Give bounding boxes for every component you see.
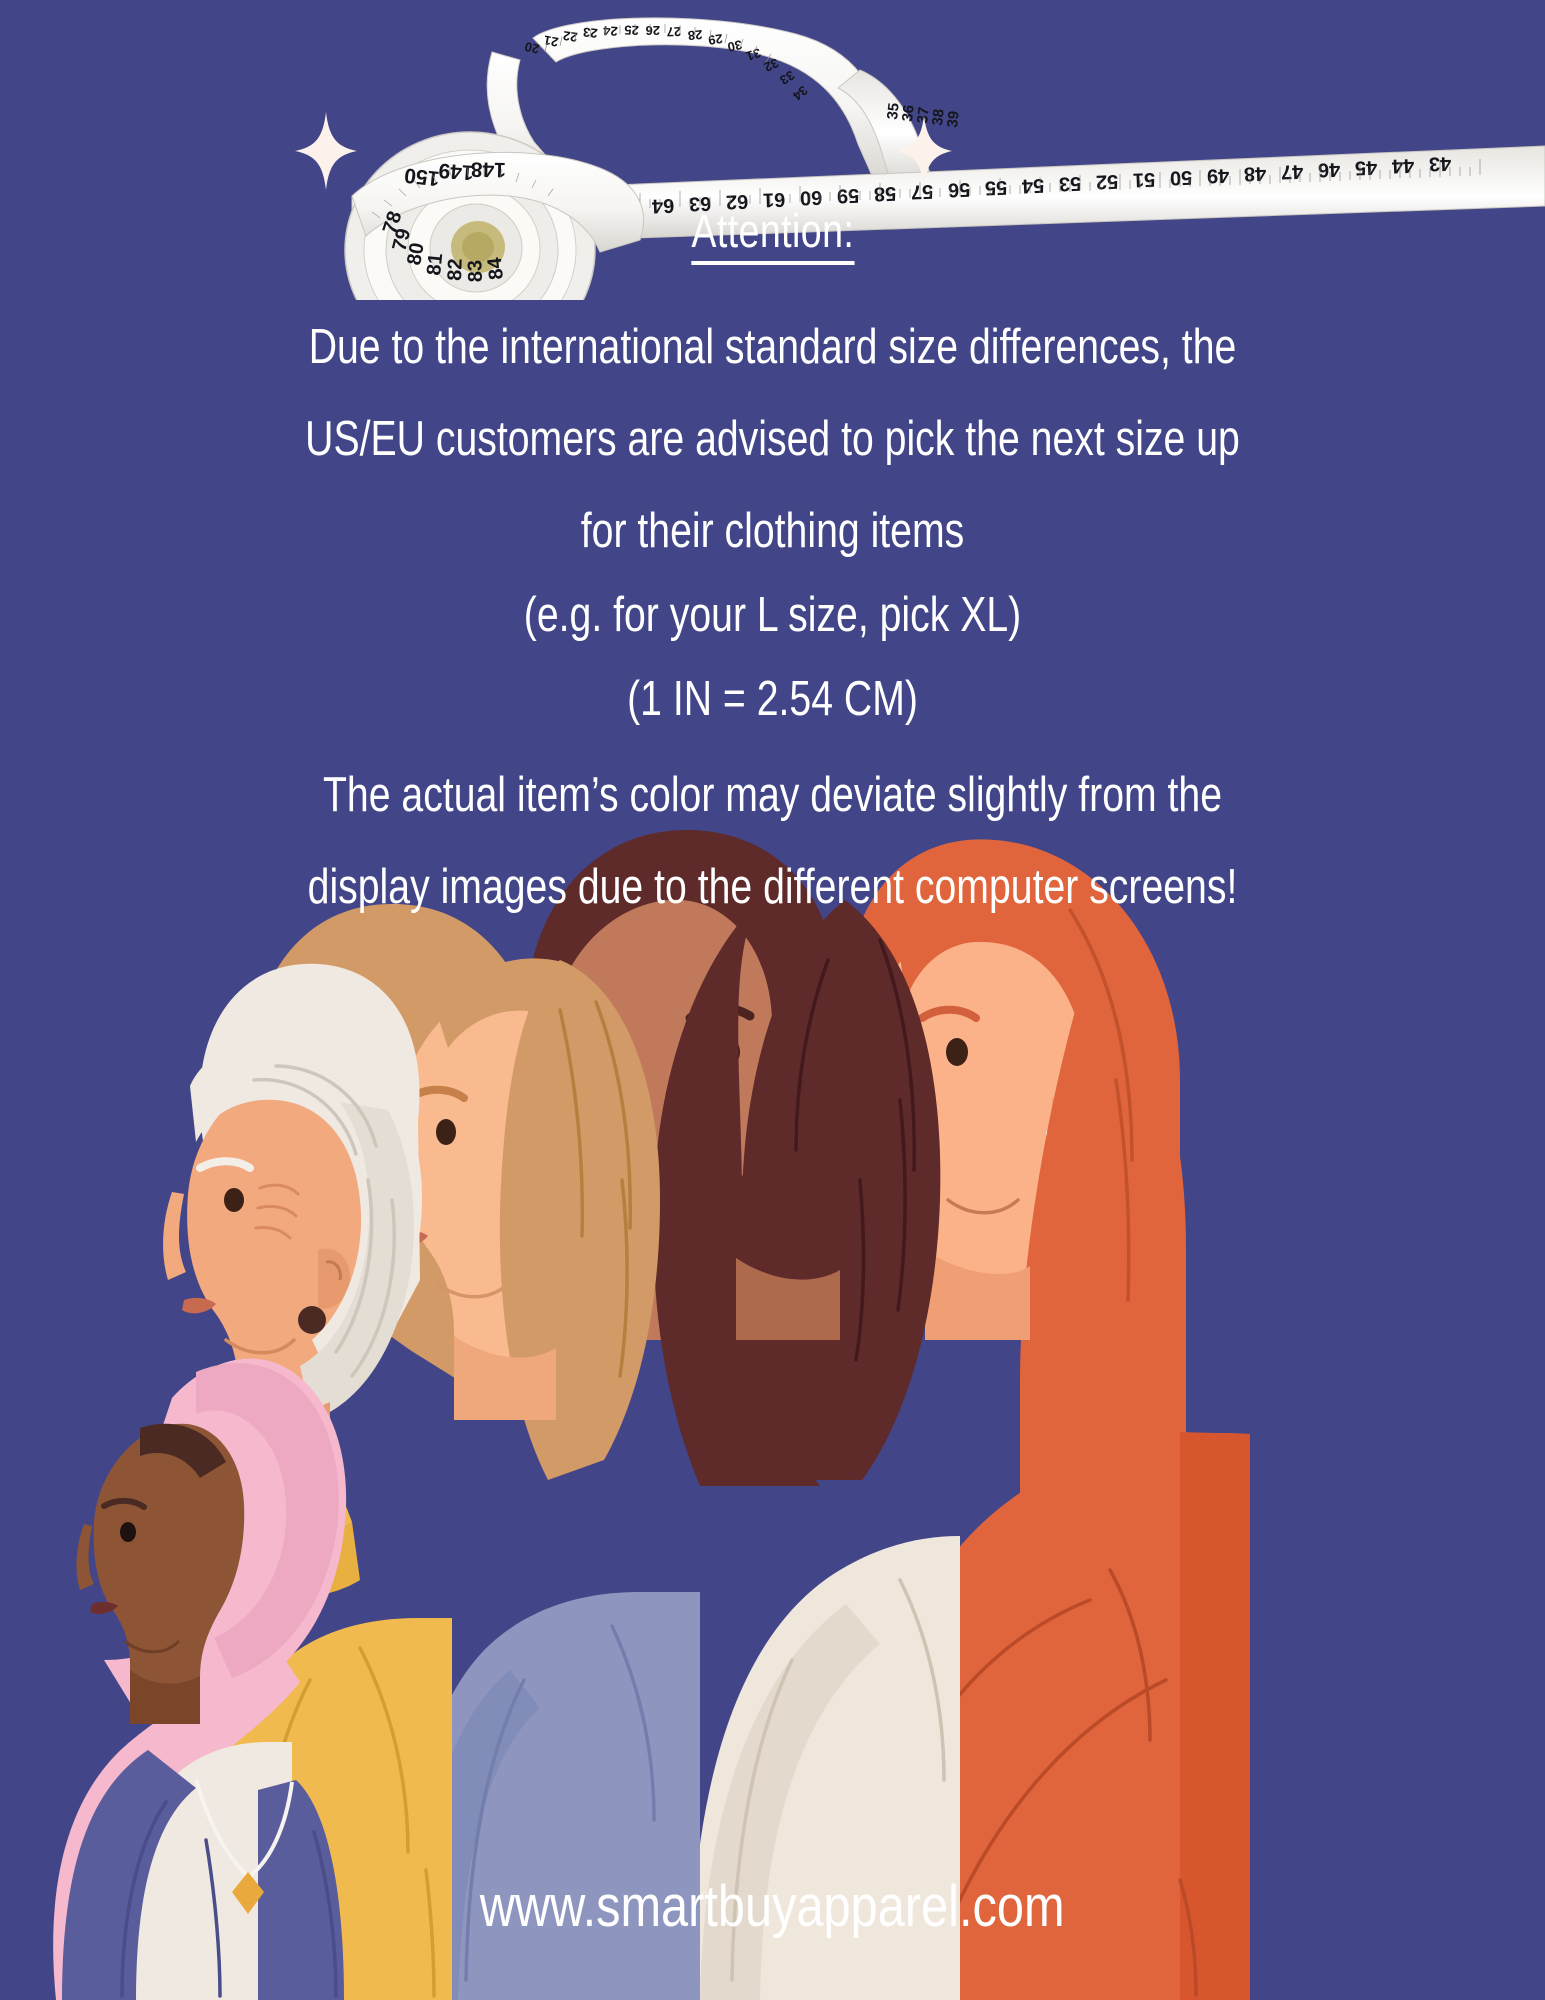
notice-text-block: Attention: Due to the international stan… — [0, 205, 1545, 912]
svg-text:46: 46 — [1318, 158, 1341, 181]
tape-left-connector — [487, 52, 560, 190]
page-title: Attention: — [691, 205, 854, 265]
website-url-text: www.smartbuyapparel.com — [480, 1873, 1065, 1940]
svg-text:48: 48 — [1244, 162, 1267, 185]
svg-text:33: 33 — [777, 67, 797, 87]
svg-text:44: 44 — [1391, 154, 1415, 177]
svg-text:27: 27 — [666, 24, 681, 39]
notice-line-7: display images due to the different comp… — [155, 863, 1391, 912]
svg-text:31: 31 — [744, 45, 762, 64]
svg-text:47: 47 — [1281, 160, 1304, 183]
sparkle-icon — [295, 112, 357, 195]
notice-line-1: Due to the international standard size d… — [155, 323, 1391, 372]
tape-upper-loop: 20 20 21 22 23 24 25 26 27 28 29 30 31 — [523, 18, 905, 180]
sparkle-icon — [896, 116, 952, 191]
svg-text:20: 20 — [523, 39, 540, 57]
svg-text:150: 150 — [403, 163, 440, 190]
svg-text:149: 149 — [438, 159, 475, 184]
svg-text:29: 29 — [707, 31, 723, 48]
svg-text:51: 51 — [1133, 168, 1156, 191]
notice-line-6: The actual item’s color may deviate slig… — [155, 771, 1391, 820]
notice-line-4: (e.g. for your L size, pick XL) — [155, 591, 1391, 640]
svg-text:49: 49 — [1207, 164, 1230, 187]
notice-line-3: for their clothing items — [155, 507, 1391, 556]
svg-text:148: 148 — [470, 157, 506, 181]
svg-text:43: 43 — [1429, 152, 1452, 175]
svg-text:26: 26 — [646, 23, 660, 38]
svg-text:50: 50 — [1170, 166, 1193, 189]
svg-text:21: 21 — [543, 33, 560, 50]
svg-text:28: 28 — [687, 27, 703, 43]
notice-line-5: (1 IN = 2.54 CM) — [155, 675, 1391, 724]
svg-text:52: 52 — [1096, 170, 1119, 193]
svg-text:55: 55 — [985, 176, 1008, 199]
svg-text:53: 53 — [1059, 172, 1082, 195]
earring-stud — [298, 1306, 326, 1334]
website-url[interactable]: www.smartbuyapparel.com — [0, 1873, 1545, 1940]
svg-text:54: 54 — [1021, 174, 1045, 197]
svg-text:23: 23 — [582, 25, 598, 41]
svg-text:24: 24 — [602, 23, 618, 39]
notice-line-2: US/EU customers are advised to pick the … — [155, 415, 1391, 464]
five-women-illustration — [0, 780, 1545, 2000]
svg-text:30: 30 — [726, 37, 743, 55]
svg-text:25: 25 — [624, 22, 639, 37]
svg-text:20: 20 — [524, 41, 540, 57]
svg-text:45: 45 — [1355, 156, 1378, 179]
svg-text:32: 32 — [762, 55, 781, 75]
svg-text:34: 34 — [789, 83, 810, 104]
svg-text:58: 58 — [874, 182, 897, 205]
svg-text:22: 22 — [562, 28, 578, 45]
size-guide-poster: 20 20 21 22 23 24 25 26 27 28 29 30 31 — [0, 0, 1545, 2000]
